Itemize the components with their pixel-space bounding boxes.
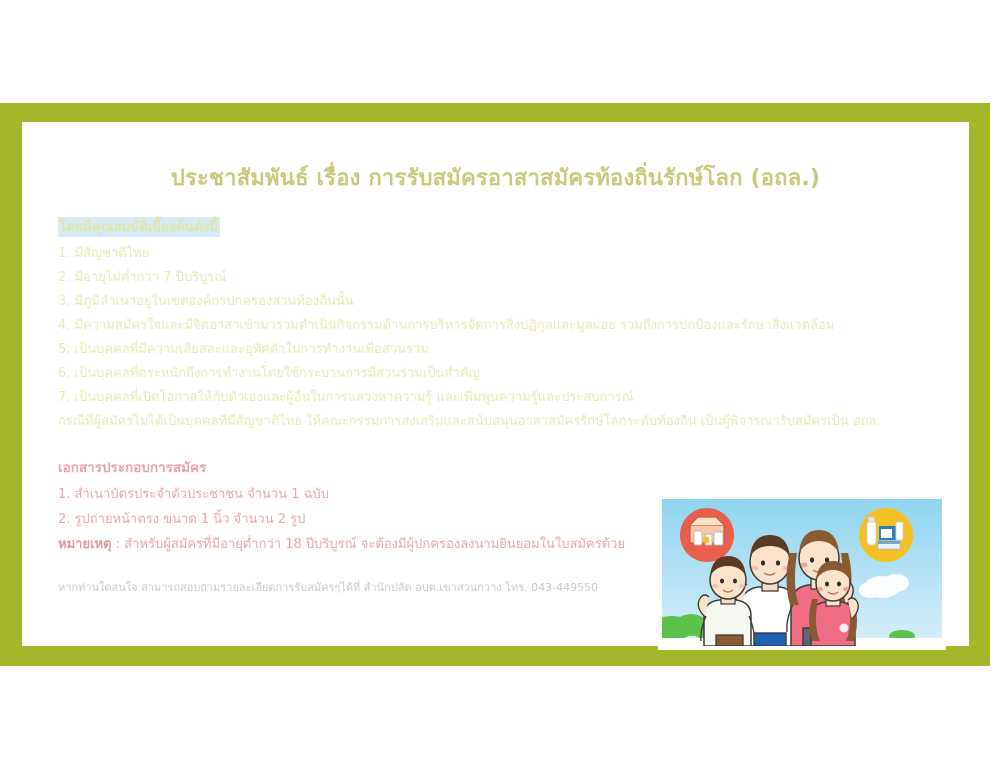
- frame-inner-white: ประชาสัมพันธ์ เรื่อง การรับสมัครอาสาสมัค…: [22, 122, 969, 646]
- list-item: 6. เป็นบุคคลที่ตระหนักถึงการทำงานโดยใช้ก…: [58, 362, 949, 386]
- recycling-items-badge: [859, 508, 913, 562]
- poster-page: ประชาสัมพันธ์ เรื่อง การรับสมัครอาสาสมัค…: [0, 0, 1003, 775]
- qualifications-list: 1. มีสัญชาติไทย 2. มีอายุไม่ต่ำกว่า 7 ปี…: [58, 242, 949, 410]
- qualifications-closing-paragraph: กรณีที่ผู้สมัครไม่ได้เป็นบุคคลที่มีสัญชา…: [58, 410, 949, 434]
- list-item: 1. มีสัญชาติไทย: [58, 242, 949, 266]
- family-waste-sorting-illustration: [658, 495, 946, 650]
- documents-note-label: หมายเหตุ: [58, 537, 112, 552]
- list-item: 3. มีภูมิลำเนาอยู่ในเขตองค์กรปกครองส่วนท…: [58, 290, 949, 314]
- documents-heading: เอกสารประกอบการสมัคร: [58, 459, 206, 477]
- poster-sheet: ประชาสัมพันธ์ เรื่อง การรับสมัครอาสาสมัค…: [22, 122, 969, 646]
- waste-collection-badge: [680, 508, 734, 562]
- list-item: 4. มีความสมัครใจและมีจิตอาสาเข้ามาร่วมดำ…: [58, 314, 949, 338]
- decorative-frame: ประชาสัมพันธ์ เรื่อง การรับสมัครอาสาสมัค…: [0, 103, 990, 666]
- documents-note-text: : สำหรับผู้สมัครที่มีอายุต่ำกว่า 18 ปีบร…: [112, 537, 626, 552]
- list-item: 5. เป็นบุคคลที่มีความเสียสละและอุทิศตัวใ…: [58, 338, 949, 362]
- list-item: 2. มีอายุไม่ต่ำกว่า 7 ปีบริบูรณ์: [58, 266, 949, 290]
- footer-contact-line: หากท่านใดสนใจ สามารถสอบถามรายละเอียดการร…: [58, 580, 598, 596]
- illustration-svg: [658, 495, 946, 650]
- list-item: 7. เป็นบุคคลที่เปิดโอกาสให้กับตัวเองและผ…: [58, 386, 949, 410]
- qualifications-section: โดยมีคุณสมบัติเบื้องต้นดังนี้ 1. มีสัญชา…: [58, 216, 949, 434]
- qualifications-heading: โดยมีคุณสมบัติเบื้องต้นดังนี้: [58, 217, 220, 237]
- page-title: ประชาสัมพันธ์ เรื่อง การรับสมัครอาสาสมัค…: [22, 160, 969, 195]
